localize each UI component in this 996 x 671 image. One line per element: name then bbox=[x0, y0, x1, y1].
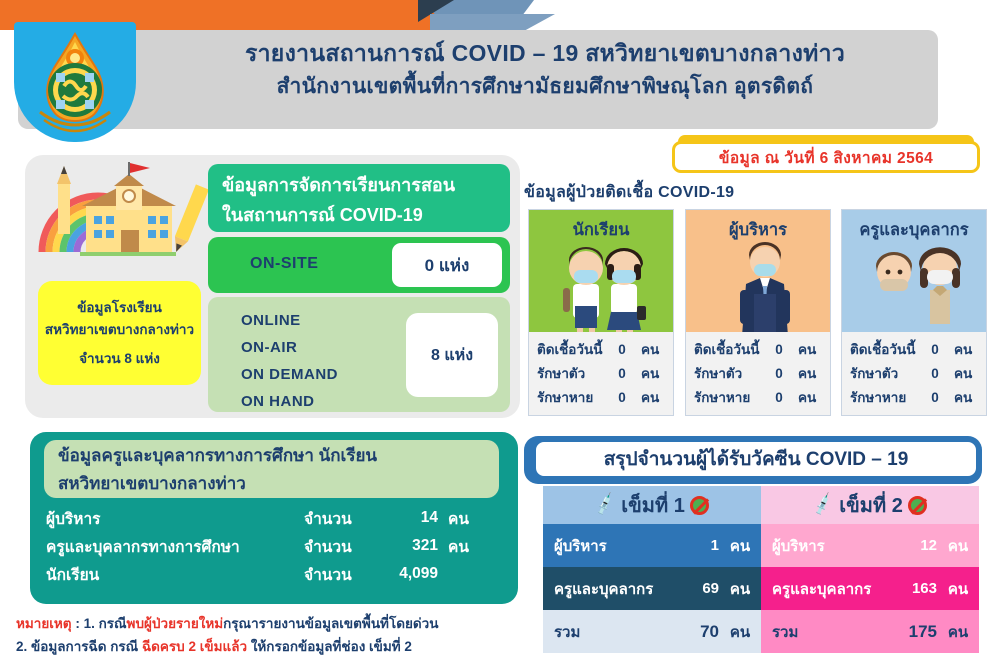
dose2-row-count: 163 bbox=[889, 580, 937, 597]
case-stat-value: 0 bbox=[609, 362, 635, 386]
staff-row: ผู้บริหาร จำนวน 14 คน bbox=[46, 504, 508, 532]
obec-emblem-logo bbox=[14, 22, 136, 142]
note-line-2: 2. ข้อมูลการฉีด กรณี ฉีดครบ 2 เข็มแล้ว ใ… bbox=[16, 635, 556, 658]
case-stat-row: ติดเชื้อวันนี้ 0 คน bbox=[850, 338, 986, 362]
staff-row: นักเรียน จำนวน 4,099 bbox=[46, 560, 508, 588]
staff-panel-title: ข้อมูลครูและบุคลากรทางการศึกษา นักเรียน … bbox=[44, 440, 499, 498]
mode-on-air: ON-AIR bbox=[241, 334, 338, 361]
case-stat-unit: คน bbox=[635, 338, 669, 362]
dose2-row-label: ครูและบุคลากร bbox=[761, 577, 889, 601]
dose2-header: 💉 เข็มที่ 2 bbox=[761, 486, 979, 524]
staff-row-unit: จำนวน bbox=[304, 506, 374, 531]
school-illustration bbox=[38, 160, 218, 295]
case-stat-label: รักษาหาย bbox=[850, 386, 922, 410]
title-line-1: รายงานสถานการณ์ COVID – 19 สหวิทยาเขตบาง… bbox=[150, 38, 940, 68]
case-stat-unit: คน bbox=[948, 362, 982, 386]
footer-note: หมายเหตุ : 1. กรณีพบผู้ป่วยรายใหม่กรุณาร… bbox=[16, 612, 556, 658]
case-stat-row: รักษาตัว 0 คน bbox=[850, 362, 986, 386]
note-l2-b: ให้กรอกข้อมูลที่ช่อง เข็มที่ 2 bbox=[247, 639, 412, 654]
case-stat-unit: คน bbox=[635, 386, 669, 410]
staff-row: ครูและบุคลากรทางการศึกษา จำนวน 321 คน bbox=[46, 532, 508, 560]
staff-title-line-1: ข้อมูลครูและบุคลากรทางการศึกษา นักเรียน bbox=[58, 442, 499, 470]
case-card-teachers: ครูและบุคลากร ติดเชื้อวันนี้ 0 bbox=[841, 209, 987, 416]
dose2-header-label: เข็มที่ 2 bbox=[839, 489, 903, 521]
title-line-2: สำนักงานเขตพื้นที่การศึกษามัธยมศึกษาพิษณ… bbox=[150, 72, 940, 102]
teaching-title-line-2: ในสถานการณ์ COVID-19 bbox=[222, 200, 510, 230]
staff-row-person: คน bbox=[448, 534, 488, 559]
note-l1-a: : 1. กรณี bbox=[72, 616, 127, 631]
case-stat-label: ติดเชื้อวันนี้ bbox=[694, 338, 766, 362]
case-card-administrators: ผู้บริหาร ติดเชื้อวันนี้ 0 คน รักษาตัว 0 bbox=[685, 209, 831, 416]
staff-row-count: 14 bbox=[374, 509, 448, 527]
dose2-total-label: รวม bbox=[761, 620, 889, 644]
cases-section-title: ข้อมูลผู้ป่วยติดเชื้อ COVID-19 bbox=[524, 180, 734, 205]
dose2-row-unit: คน bbox=[937, 577, 979, 601]
dose2-row-teachers: ครูและบุคลากร 163 คน bbox=[761, 567, 979, 610]
dose2-total-unit: คน bbox=[937, 620, 979, 644]
case-stat-value: 0 bbox=[609, 338, 635, 362]
dose2-total-count: 175 bbox=[889, 622, 937, 642]
case-stat-unit: คน bbox=[635, 362, 669, 386]
dose1-row-teachers: ครูและบุคลากร 69 คน bbox=[543, 567, 761, 610]
dose1-row-count: 69 bbox=[671, 580, 719, 597]
vaccine-table: 💉 เข็มที่ 1 ผู้บริหาร 1 คน ครูและบุคลากร… bbox=[543, 486, 979, 654]
case-card-title: ครูและบุคลากร bbox=[842, 217, 986, 243]
onsite-row: ON-SITE 0 แห่ง bbox=[208, 237, 510, 293]
onsite-value: 0 แห่ง bbox=[392, 243, 502, 287]
case-stat-value: 0 bbox=[922, 338, 948, 362]
case-stat-row: รักษาหาย 0 คน bbox=[694, 386, 830, 410]
case-card-stats: ติดเชื้อวันนี้ 0 คน รักษาตัว 0 คน รักษาห… bbox=[842, 338, 986, 410]
case-card-header: ครูและบุคลากร bbox=[842, 210, 986, 332]
case-stat-row: รักษาหาย 0 คน bbox=[850, 386, 986, 410]
dose1-row-unit: คน bbox=[719, 577, 761, 601]
no-virus-icon bbox=[908, 496, 927, 515]
teaching-title-line-1: ข้อมูลการจัดการเรียนการสอน bbox=[222, 170, 510, 200]
case-card-stats: ติดเชื้อวันนี้ 0 คน รักษาตัว 0 คน รักษาห… bbox=[529, 338, 673, 410]
syringe-icon: 💉 bbox=[592, 492, 619, 518]
case-stat-unit: คน bbox=[948, 338, 982, 362]
dose1-header: 💉 เข็มที่ 1 bbox=[543, 486, 761, 524]
case-card-header: ผู้บริหาร bbox=[686, 210, 830, 332]
note-l2-a: 2. ข้อมูลการฉีด กรณี bbox=[16, 639, 142, 654]
staff-row-count: 4,099 bbox=[374, 565, 448, 583]
vaccine-dose1-column: 💉 เข็มที่ 1 ผู้บริหาร 1 คน ครูและบุคลากร… bbox=[543, 486, 761, 654]
mode-on-demand: ON DEMAND bbox=[241, 361, 338, 388]
case-stat-value: 0 bbox=[609, 386, 635, 410]
case-card-stats: ติดเชื้อวันนี้ 0 คน รักษาตัว 0 คน รักษาห… bbox=[686, 338, 830, 410]
case-stat-row: รักษาตัว 0 คน bbox=[694, 362, 830, 386]
case-stat-row: รักษาหาย 0 คน bbox=[537, 386, 673, 410]
staff-row-name: ครูและบุคลากรทางการศึกษา bbox=[46, 534, 304, 559]
dose2-row-administrators: ผู้บริหาร 12 คน bbox=[761, 524, 979, 567]
dose2-row-count: 12 bbox=[889, 537, 937, 554]
staff-student-panel: ข้อมูลครูและบุคลากรทางการศึกษา นักเรียน … bbox=[30, 432, 518, 604]
case-stat-label: รักษาตัว bbox=[850, 362, 922, 386]
case-stat-value: 0 bbox=[922, 386, 948, 410]
staff-title-line-2: สหวิทยาเขตบางกลางท่าว bbox=[58, 470, 499, 498]
school-box-line-2: สหวิทยาเขตบางกลางท่าว bbox=[45, 319, 194, 341]
staff-row-unit: จำนวน bbox=[304, 562, 374, 587]
staff-row-count: 321 bbox=[374, 537, 448, 555]
school-box-line-3: จำนวน 8 แห่ง bbox=[79, 348, 160, 370]
dose2-row-label: ผู้บริหาร bbox=[761, 534, 889, 558]
mode-online: ONLINE bbox=[241, 307, 338, 334]
page-title: รายงานสถานการณ์ COVID – 19 สหวิทยาเขตบาง… bbox=[150, 38, 940, 102]
case-stat-label: รักษาหาย bbox=[537, 386, 609, 410]
case-stat-row: ติดเชื้อวันนี้ 0 คน bbox=[694, 338, 830, 362]
dose1-total-unit: คน bbox=[719, 620, 761, 644]
case-stat-value: 0 bbox=[766, 386, 792, 410]
case-stat-label: ติดเชื้อวันนี้ bbox=[850, 338, 922, 362]
staff-row-name: นักเรียน bbox=[46, 562, 304, 587]
online-mode-list: ONLINE ON-AIR ON DEMAND ON HAND bbox=[241, 307, 338, 415]
staff-rows: ผู้บริหาร จำนวน 14 คน ครูและบุคลากรทางกา… bbox=[46, 504, 508, 588]
dose1-row-total: รวม 70 คน bbox=[543, 610, 761, 653]
staff-row-person: คน bbox=[448, 506, 488, 531]
case-stat-value: 0 bbox=[766, 362, 792, 386]
mode-on-hand: ON HAND bbox=[241, 388, 338, 415]
case-card-header: นักเรียน bbox=[529, 210, 673, 332]
date-badge: ข้อมูล ณ วันที่ 6 สิงหาคม 2564 bbox=[672, 141, 980, 173]
vaccine-section-title: สรุปจำนวนผู้ได้รับวัคซีน COVID – 19 bbox=[534, 440, 978, 478]
case-stat-unit: คน bbox=[792, 338, 826, 362]
case-stat-row: ติดเชื้อวันนี้ 0 คน bbox=[537, 338, 673, 362]
dose1-row-count: 1 bbox=[671, 537, 719, 554]
case-card-students: นักเรียน bbox=[528, 209, 674, 416]
vaccine-dose2-column: 💉 เข็มที่ 2 ผู้บริหาร 12 คน ครูและบุคลาก… bbox=[761, 486, 979, 654]
dose1-header-label: เข็มที่ 1 bbox=[621, 489, 685, 521]
case-stat-value: 0 bbox=[766, 338, 792, 362]
case-card-title: ผู้บริหาร bbox=[686, 217, 830, 243]
case-stat-label: รักษาตัว bbox=[537, 362, 609, 386]
case-stat-label: ติดเชื้อวันนี้ bbox=[537, 338, 609, 362]
dose1-row-unit: คน bbox=[719, 534, 761, 558]
online-value: 8 แห่ง bbox=[406, 313, 498, 397]
case-stat-label: รักษาตัว bbox=[694, 362, 766, 386]
staff-row-unit: จำนวน bbox=[304, 534, 374, 559]
case-stat-label: รักษาหาย bbox=[694, 386, 766, 410]
online-modes-block: ONLINE ON-AIR ON DEMAND ON HAND 8 แห่ง bbox=[208, 297, 510, 412]
note-l1-b: กรุณารายงานข้อมูลเขตพื้นที่โดยด่วน bbox=[223, 616, 438, 631]
teaching-card-title: ข้อมูลการจัดการเรียนการสอน ในสถานการณ์ C… bbox=[208, 164, 510, 232]
dose1-total-label: รวม bbox=[543, 620, 671, 644]
note-label: หมายเหตุ bbox=[16, 616, 72, 631]
dose2-row-unit: คน bbox=[937, 534, 979, 558]
dose1-row-administrators: ผู้บริหาร 1 คน bbox=[543, 524, 761, 567]
dose1-row-label: ผู้บริหาร bbox=[543, 534, 671, 558]
case-stat-value: 0 bbox=[922, 362, 948, 386]
onsite-label: ON-SITE bbox=[250, 255, 318, 273]
note-l1-highlight: พบผู้ป่วยรายใหม่ bbox=[127, 616, 224, 631]
dose2-row-total: รวม 175 คน bbox=[761, 610, 979, 653]
case-stat-row: รักษาตัว 0 คน bbox=[537, 362, 673, 386]
staff-row-name: ผู้บริหาร bbox=[46, 506, 304, 531]
note-l2-highlight: ฉีดครบ 2 เข็มแล้ว bbox=[142, 639, 247, 654]
school-box-line-1: ข้อมูลโรงเรียน bbox=[77, 297, 162, 319]
dose1-row-label: ครูและบุคลากร bbox=[543, 577, 671, 601]
school-count-box: ข้อมูลโรงเรียน สหวิทยาเขตบางกลางท่าว จำน… bbox=[38, 281, 201, 385]
case-stat-unit: คน bbox=[948, 386, 982, 410]
case-stat-unit: คน bbox=[792, 386, 826, 410]
dose1-total-count: 70 bbox=[671, 622, 719, 642]
case-card-title: นักเรียน bbox=[529, 217, 673, 243]
note-line-1: หมายเหตุ : 1. กรณีพบผู้ป่วยรายใหม่กรุณาร… bbox=[16, 612, 556, 635]
syringe-icon: 💉 bbox=[810, 492, 837, 518]
case-stat-unit: คน bbox=[792, 362, 826, 386]
no-virus-icon bbox=[690, 496, 709, 515]
